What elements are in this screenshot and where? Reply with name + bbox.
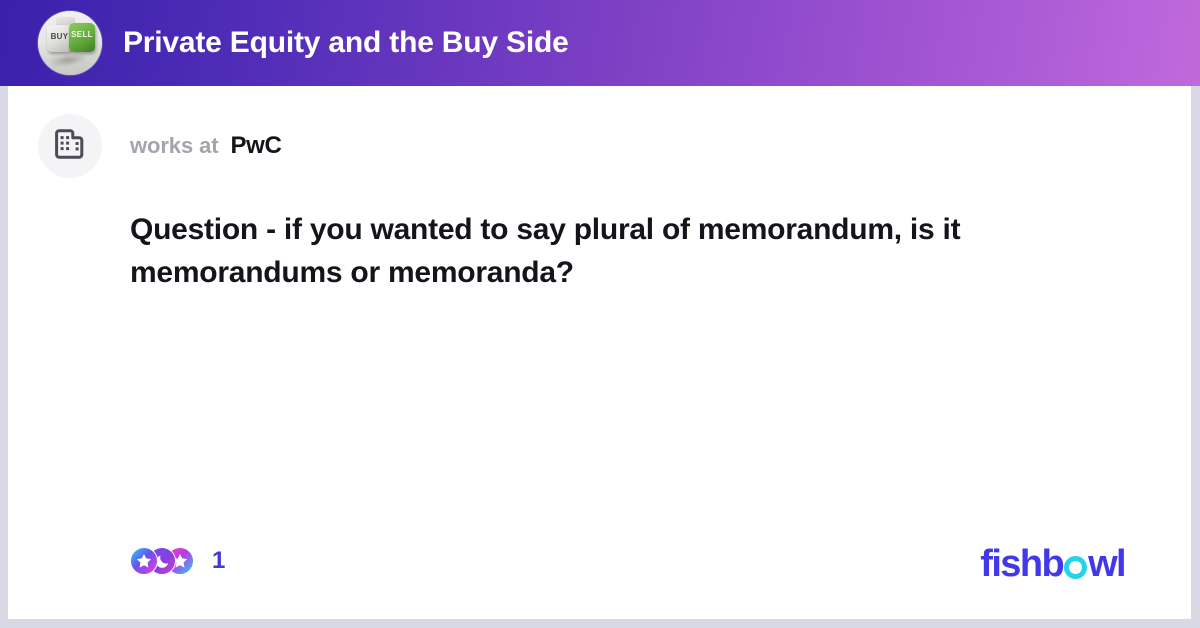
avatar bbox=[38, 114, 102, 178]
fishbowl-logo-o-icon bbox=[1064, 556, 1087, 579]
fishbowl-logo-part1: fishb bbox=[980, 545, 1063, 583]
author-meta: works at PwC bbox=[130, 132, 282, 160]
reaction-count: 1 bbox=[212, 549, 225, 573]
reaction-icon-stack[interactable] bbox=[130, 547, 198, 575]
post-text: Question - if you wanted to say plural o… bbox=[130, 208, 1090, 294]
post-card: works at PwC Question - if you wanted to… bbox=[0, 86, 1200, 628]
company-name: PwC bbox=[230, 132, 281, 160]
works-at-label: works at bbox=[130, 133, 218, 159]
bowl-header[interactable]: BUY SELL Private Equity and the Buy Side bbox=[0, 0, 1200, 86]
reactions-group[interactable]: 1 bbox=[130, 541, 225, 581]
bowl-avatar-image[interactable]: BUY SELL bbox=[38, 11, 102, 75]
office-building-icon bbox=[52, 126, 88, 167]
post-footer: 1 fishb wl bbox=[8, 541, 1191, 581]
fishbowl-logo-part2: wl bbox=[1088, 545, 1125, 583]
star-reaction-icon[interactable] bbox=[130, 547, 158, 575]
avatar-die-sell-label: SELL bbox=[69, 30, 95, 39]
avatar-die-sell: SELL bbox=[69, 23, 95, 52]
fishbowl-post-screenshot: BUY SELL Private Equity and the Buy Side bbox=[0, 0, 1200, 628]
author-row: works at PwC bbox=[38, 114, 282, 178]
fishbowl-logo: fishb wl bbox=[980, 545, 1125, 583]
bowl-title: Private Equity and the Buy Side bbox=[123, 26, 569, 60]
post-card-inner: works at PwC Question - if you wanted to… bbox=[8, 86, 1191, 619]
